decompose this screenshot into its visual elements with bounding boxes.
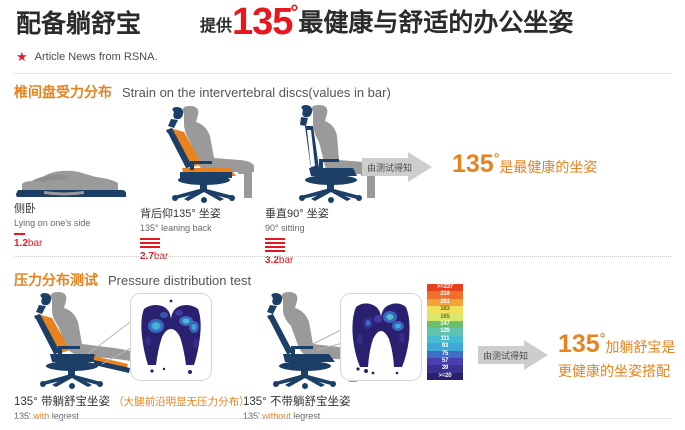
hero-degree-symbol: ° [290, 2, 298, 25]
bcap1-note: （大腿前沿明显无压力分布） [113, 396, 250, 408]
hero-subtitle-suffix: 最健康与舒适的办公坐姿 [298, 3, 573, 39]
legend-row: 93 [427, 343, 463, 350]
hero-angle-number: 135 [232, 3, 292, 41]
divider-bottom [14, 418, 671, 419]
divider-top [14, 73, 671, 74]
bcap2-cn: 135° 不带躺舒宝坐姿 [243, 396, 350, 408]
figure3-caption-en: 90° sitting [265, 223, 385, 233]
figure3-bar-indicator [265, 238, 385, 252]
legend-row: 75 [427, 351, 463, 358]
arrow-label-1: 由测试得知 [362, 161, 412, 174]
section2-conclusion-text-line2: 更健康的坐姿搭配 [558, 361, 675, 381]
section2-conclusion: 135°加躺舒宝是 更健康的坐姿搭配 [558, 330, 675, 381]
figure2-caption-cn: 背后仰135° 坐姿 [140, 205, 265, 221]
hero-subtitle-prefix: 提供 [200, 12, 232, 36]
bcap2-en-pre: 135' [243, 411, 262, 421]
legend-row: 129 [427, 328, 463, 335]
bottom-caption-without-legrest: 135° 不带躺舒宝坐姿 135' without legrest [243, 393, 350, 421]
bottom-caption-with-legrest: 135° 带躺舒宝坐姿 （大腿前沿明显无压力分布） 135' with legr… [14, 393, 250, 421]
chair-leaning-illustration [140, 106, 265, 201]
byline-text: Article News from RSNA. [35, 51, 158, 63]
section2-heading-en: Pressure distribution test [108, 273, 251, 288]
section1-heading-cn: 椎间盘受力分布 [14, 82, 112, 102]
section1-heading: 椎间盘受力分布 Strain on the intervertebral dis… [14, 82, 391, 102]
figure3-caption-cn: 垂直90° 坐姿 [265, 205, 385, 221]
legend-row: 219 [427, 291, 463, 298]
arrow-label-2: 由测试得知 [478, 349, 528, 362]
bcap2-en-post: legrest [291, 411, 321, 421]
legend-row: 201 [427, 299, 463, 306]
section1-arrow: 由测试得知 [362, 152, 432, 182]
hero-subtitle: 提供 135 ° 最健康与舒适的办公坐姿 [200, 0, 575, 39]
section2-conclusion-number: 135 [558, 330, 600, 358]
section2-conclusion-text: 加躺舒宝是 [605, 339, 675, 355]
pressure-heatmap-1 [130, 293, 212, 381]
poster-root: 配备躺舒宝 提供 135 ° 最健康与舒适的办公坐姿 ★ Article New… [0, 0, 685, 430]
legend-row: 147 [427, 321, 463, 328]
pressure-map-with-legrest [130, 293, 212, 381]
hero-header: 配备躺舒宝 提供 135 ° 最健康与舒适的办公坐姿 [0, 0, 685, 46]
bcap1-en-pre: 135' [14, 411, 33, 421]
bcap1-cn: 135° 带躺舒宝坐姿 [14, 396, 110, 408]
legend-row: 39 [427, 365, 463, 372]
pressure-map-without-legrest [340, 293, 422, 381]
lying-person-illustration [14, 150, 134, 200]
figure1-caption-cn: 侧卧 [14, 200, 134, 216]
arrow-shape-2: 由测试得知 [478, 340, 548, 370]
bcap1-en-hl: with [33, 411, 49, 421]
section1-conclusion-degree: ° [494, 150, 500, 166]
pressure-heatmap-2 [340, 293, 422, 381]
section2-heading-cn: 压力分布测试 [14, 270, 98, 290]
section1-conclusion-number: 135 [452, 150, 494, 178]
pressure-scale-legend: >=237 219 201 183 165 147 129 111 93 75 … [427, 284, 463, 380]
bcap1-en-post: legrest [49, 411, 79, 421]
legend-row: 111 [427, 336, 463, 343]
figure1-caption-en: Lying on one's side [14, 218, 134, 228]
section2-conclusion-degree: ° [600, 330, 606, 346]
bcap2-en-hl: without [262, 411, 291, 421]
section1-conclusion-text: 是最健康的坐姿 [499, 159, 597, 175]
legend-row: 183 [427, 306, 463, 313]
figure-lying-on-side: 侧卧 Lying on one's side 1.2bar [14, 150, 134, 249]
divider-middle [14, 256, 671, 257]
legend-row: 57 [427, 358, 463, 365]
figure2-bar-indicator [140, 238, 265, 248]
arrow-shape-1: 由测试得知 [362, 152, 432, 182]
figure1-value: 1.2bar [14, 238, 134, 249]
legend-row: >=20 [427, 373, 463, 380]
section2-arrow: 由测试得知 [478, 340, 548, 370]
figure-sitting-90: 垂直90° 坐姿 90° sitting 3.2bar [265, 106, 385, 266]
byline: ★ Article News from RSNA. [16, 50, 158, 63]
section2-heading: 压力分布测试 Pressure distribution test [14, 270, 251, 290]
figure2-caption-en: 135° leaning back [140, 223, 265, 233]
star-icon: ★ [16, 50, 28, 63]
hero-title-cn: 配备躺舒宝 [16, 4, 141, 40]
figure-leaning-back-135: 背后仰135° 坐姿 135° leaning back 2.7bar [140, 106, 265, 262]
section1-heading-en: Strain on the intervertebral discs(value… [122, 85, 391, 100]
section1-conclusion: 135°是最健康的坐姿 [452, 150, 597, 179]
legend-row: 165 [427, 314, 463, 321]
figure1-bar-indicator [14, 233, 134, 235]
legend-row: >=237 [427, 284, 463, 291]
